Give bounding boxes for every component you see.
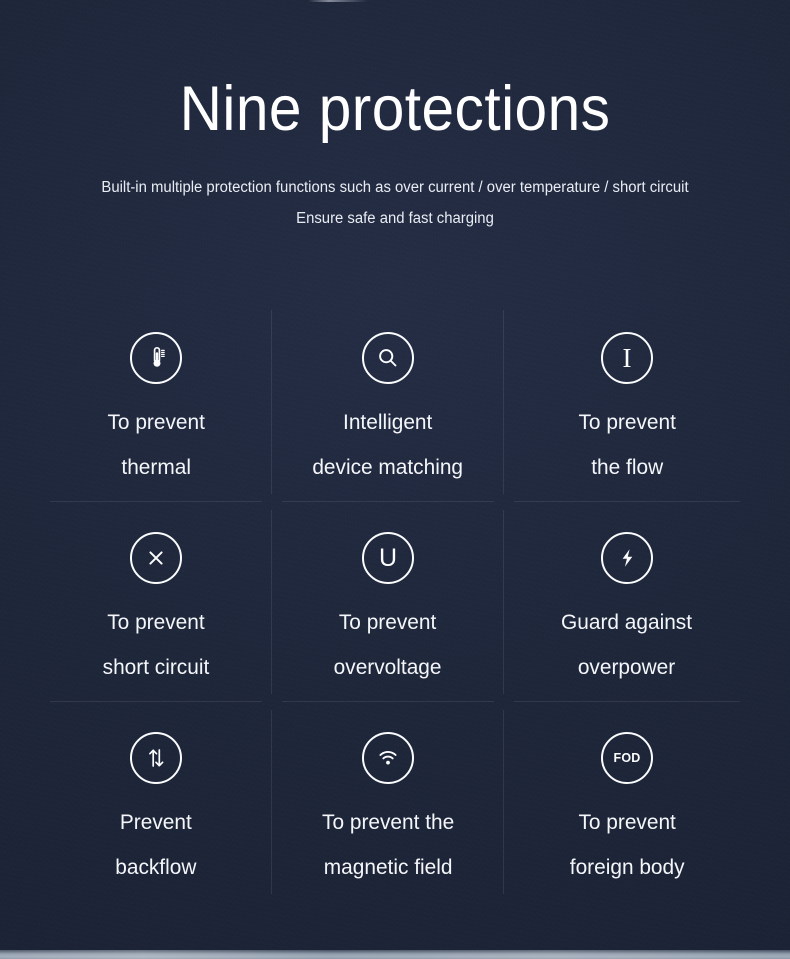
label-line-1: To prevent (107, 400, 204, 445)
grid-item-label: Guard against overpower (559, 600, 694, 690)
label-line-1: Prevent (115, 800, 196, 845)
grid-item-backflow[interactable]: Prevent backflow (40, 702, 272, 902)
grid-item-short-circuit[interactable]: To prevent short circuit (40, 502, 272, 702)
current-i-icon: I (601, 332, 653, 384)
voltage-u-icon: U (362, 532, 414, 584)
magnifier-icon (362, 332, 414, 384)
label-line-2: foreign body (570, 845, 685, 890)
grid-item-label: To prevent short circuit (101, 600, 211, 690)
label-line-2: thermal (107, 445, 204, 490)
label-line-2: overvoltage (334, 645, 442, 690)
label-line-2: magnetic field (322, 845, 454, 890)
label-line-2: short circuit (103, 645, 210, 690)
subtitle: Built-in multiple protection functions s… (0, 172, 790, 234)
grid-item-label: To prevent the magnetic field (320, 800, 456, 890)
protections-grid: To prevent thermal Intelligent device ma… (40, 302, 750, 902)
bottom-edge-band (0, 950, 790, 959)
label-line-1: To prevent (570, 800, 685, 845)
grid-item-overvoltage[interactable]: U To prevent overvoltage (272, 502, 504, 702)
grid-item-magnetic-field[interactable]: To prevent the magnetic field (272, 702, 504, 902)
lightning-bolt-icon (601, 532, 653, 584)
subtitle-line-1: Built-in multiple protection functions s… (16, 172, 774, 203)
up-down-arrows-icon (130, 732, 182, 784)
fod-text-icon: FOD (601, 732, 653, 784)
cross-icon (130, 532, 182, 584)
section-header: Nine protections Built-in multiple prote… (0, 0, 790, 234)
label-line-2: the flow (578, 445, 675, 490)
grid-item-label: To prevent thermal (106, 400, 206, 490)
grid-item-overpower[interactable]: Guard against overpower (504, 502, 750, 702)
grid-item-label: To prevent overvoltage (332, 600, 443, 690)
grid-item-device-matching[interactable]: Intelligent device matching (272, 302, 504, 502)
label-line-1: Intelligent (313, 400, 464, 445)
label-line-1: Guard against (561, 600, 692, 645)
signal-waves-icon (362, 732, 414, 784)
fod-glyph: FOD (614, 752, 641, 765)
label-line-1: To prevent the (322, 800, 454, 845)
grid-item-label: To prevent the flow (577, 400, 677, 490)
label-line-2: backflow (115, 845, 196, 890)
voltage-glyph: U (379, 546, 397, 571)
page-title: Nine protections (28, 74, 763, 144)
label-line-2: overpower (561, 645, 692, 690)
nine-protections-section: Nine protections Built-in multiple prote… (0, 0, 790, 959)
grid-item-over-current[interactable]: I To prevent the flow (504, 302, 750, 502)
label-line-1: To prevent (578, 400, 675, 445)
grid-item-foreign-body[interactable]: FOD To prevent foreign body (504, 702, 750, 902)
grid-item-label: To prevent foreign body (568, 800, 686, 890)
subtitle-line-2: Ensure safe and fast charging (16, 203, 774, 234)
grid-item-label: Prevent backflow (114, 800, 198, 890)
label-line-1: To prevent (334, 600, 442, 645)
label-line-2: device matching (313, 445, 464, 490)
label-line-1: To prevent (103, 600, 210, 645)
thermometer-icon (130, 332, 182, 384)
grid-item-label: Intelligent device matching (310, 400, 465, 490)
current-glyph: I (623, 345, 632, 372)
grid-item-thermal[interactable]: To prevent thermal (40, 302, 272, 502)
